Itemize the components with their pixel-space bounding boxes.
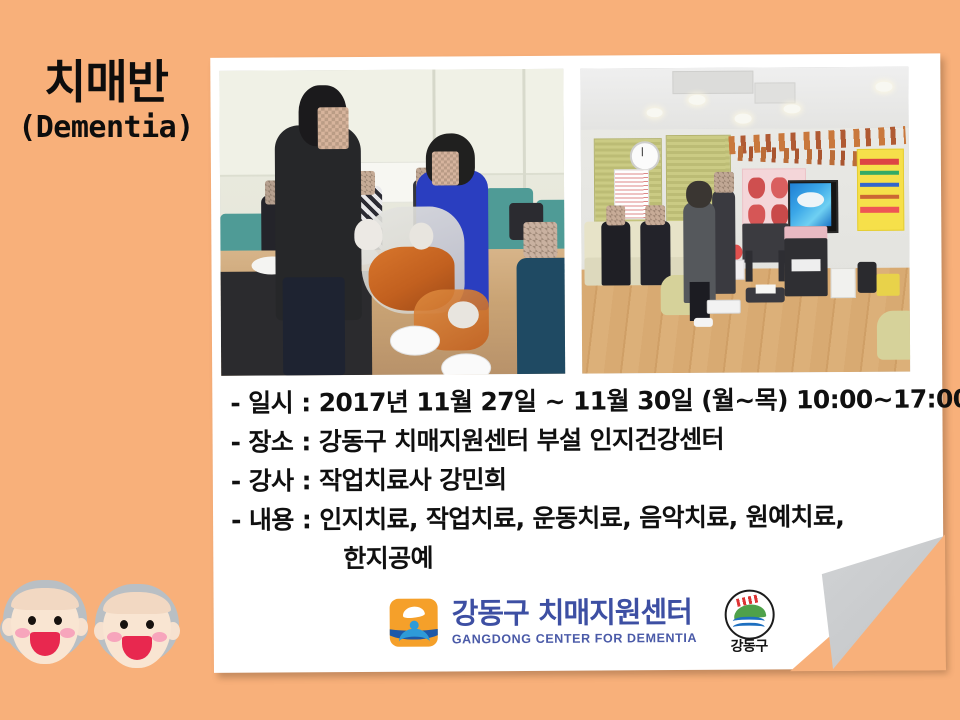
emblem-label: 강동구 <box>721 635 777 655</box>
grandfather-face-icon <box>94 584 180 676</box>
title-sub-english: (Dementia) <box>0 110 212 146</box>
logo-text-block: 강동구 치매지원센터 GANGDONG CENTER FOR DEMENTIA <box>452 598 698 646</box>
eye-left <box>120 620 128 629</box>
footer-logos: 강동구 치매지원센터 GANGDONG CENTER FOR DEMENTIA … <box>389 585 777 657</box>
dementia-center-logo-icon <box>390 599 438 647</box>
cheek-right <box>152 632 167 642</box>
photo-kimchi-making-activity <box>219 69 565 376</box>
eye-right <box>146 620 154 629</box>
wave-shape-bottom <box>733 623 765 632</box>
logo-name-english: GANGDONG CENTER FOR DEMENTIA <box>452 632 697 646</box>
content-card: - 일시 : 2017년 11월 27일 ~ 11월 30일 (월~목) 10:… <box>210 53 944 672</box>
elderly-mascot-group <box>2 578 192 688</box>
detail-line-content: - 내용 : 인지치료, 작업치료, 운동치료, 음악치료, 원예치료, <box>231 496 931 539</box>
detail-line-content-continued: 한지공예 <box>231 535 931 578</box>
emblem-circle <box>725 589 775 639</box>
detail-line-schedule: - 일시 : 2017년 11월 27일 ~ 11월 30일 (월~목) 10:… <box>230 380 930 423</box>
cheek-left <box>107 632 122 642</box>
detail-line-location: - 장소 : 강동구 치매지원센터 부설 인지건강센터 <box>230 419 930 462</box>
slide-canvas: 치매반 (Dementia) <box>0 0 960 720</box>
detail-line-instructor: - 강사 : 작업치료사 강민희 <box>231 458 931 501</box>
photo-row <box>219 67 911 376</box>
cheek-left <box>15 628 30 638</box>
grandmother-face-icon <box>2 580 88 672</box>
title-main-korean: 치매반 <box>0 58 212 108</box>
logo-name-korean: 강동구 치매지원센터 <box>452 598 697 628</box>
program-details: - 일시 : 2017년 11월 27일 ~ 11월 30일 (월~목) 10:… <box>230 380 931 579</box>
cheek-right <box>60 628 75 638</box>
photo-cognitive-health-center-room <box>580 67 910 374</box>
eye-left <box>28 616 36 625</box>
page-title: 치매반 (Dementia) <box>0 58 212 146</box>
gangdong-gu-emblem-icon: 강동구 <box>721 589 777 651</box>
eye-right <box>54 616 62 625</box>
